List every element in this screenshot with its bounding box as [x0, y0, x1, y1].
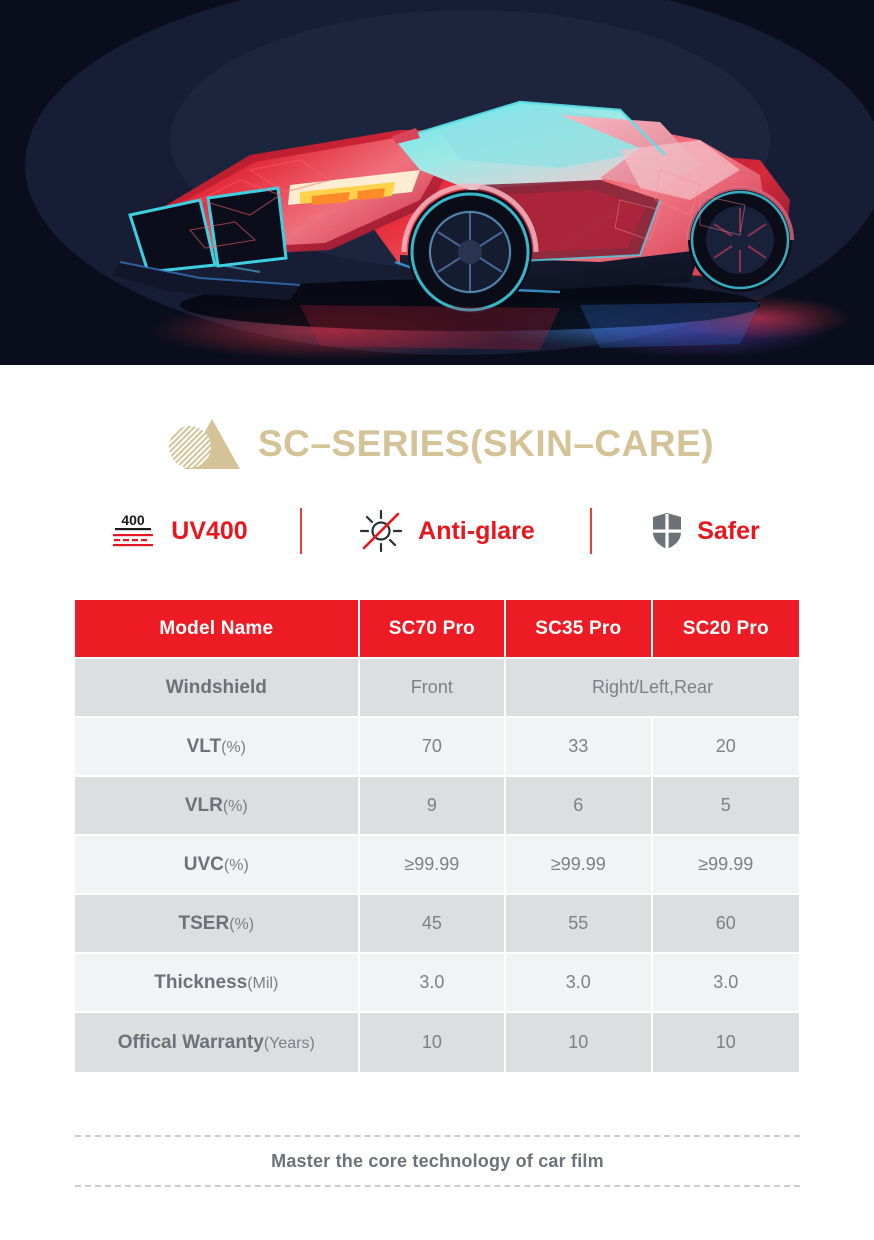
row-label-unit: (%)	[229, 916, 254, 933]
cell-uvc-sc35: ≥99.99	[506, 836, 652, 895]
feature-anti-glare-label: Anti-glare	[418, 517, 535, 546]
row-label-warranty: Offical Warranty(Years)	[75, 1013, 360, 1072]
cell-tser-sc20: 60	[653, 895, 799, 954]
shield-icon	[650, 511, 684, 551]
cell-thickness-sc70: 3.0	[360, 954, 506, 1013]
row-label-text: VLR	[185, 795, 223, 816]
feature-divider-2	[590, 508, 592, 554]
row-label-text: VLT	[187, 736, 221, 757]
feature-safer-label: Safer	[697, 517, 760, 546]
cell-warranty-sc20: 10	[653, 1013, 799, 1072]
header-sc70-pro: SC70 Pro	[360, 600, 506, 659]
cell-tser-sc70: 45	[360, 895, 506, 954]
row-label-text: TSER	[179, 913, 230, 934]
cell-tser-sc35: 55	[506, 895, 652, 954]
feature-anti-glare: Anti-glare	[340, 507, 552, 555]
row-label-vlt: VLT(%)	[75, 718, 360, 777]
cell-vlt-sc35: 33	[506, 718, 652, 777]
row-label-windshield: Windshield	[75, 659, 360, 718]
anti-glare-sun-icon	[357, 507, 405, 555]
cell-uvc-sc20: ≥99.99	[653, 836, 799, 895]
row-label-vlr: VLR(%)	[75, 777, 360, 836]
cell-uvc-sc70: ≥99.99	[360, 836, 506, 895]
page-title: SC–SERIES(SKIN–CARE)	[258, 423, 714, 465]
svg-text:400: 400	[122, 512, 146, 528]
table-row: VLR(%) 9 6 5	[75, 777, 799, 836]
row-label-text: Windshield	[166, 677, 267, 698]
row-label-uvc: UVC(%)	[75, 836, 360, 895]
hero-illustration	[0, 0, 874, 365]
footer: Master the core technology of car film	[75, 1135, 800, 1187]
cell-vlr-sc70: 9	[360, 777, 506, 836]
cell-vlr-sc35: 6	[506, 777, 652, 836]
feature-badges: 400 UV400	[0, 505, 874, 557]
hero-car-image	[0, 0, 874, 365]
cell-thickness-sc35: 3.0	[506, 954, 652, 1013]
row-label-thickness: Thickness(Mil)	[75, 954, 360, 1013]
table-row: Thickness(Mil) 3.0 3.0 3.0	[75, 954, 799, 1013]
cell-warranty-sc35: 10	[506, 1013, 652, 1072]
cell-vlr-sc20: 5	[653, 777, 799, 836]
cell-warranty-sc70: 10	[360, 1013, 506, 1072]
table-body: Windshield Front Right/Left,Rear VLT(%) …	[75, 659, 799, 1072]
row-label-unit: (Mil)	[247, 975, 278, 992]
cell-vlt-sc70: 70	[360, 718, 506, 777]
product-spec-page: SC–SERIES(SKIN–CARE) 400 UV400	[0, 0, 874, 1240]
row-label-unit: (%)	[224, 857, 249, 874]
row-label-text: Thickness	[154, 972, 247, 993]
spec-table: Model Name SC70 Pro SC35 Pro SC20 Pro Wi…	[75, 600, 799, 1072]
uv400-icon: 400	[108, 510, 158, 552]
row-label-unit: (%)	[223, 798, 248, 815]
brand-header: SC–SERIES(SKIN–CARE)	[0, 413, 874, 475]
header-sc35-pro: SC35 Pro	[506, 600, 652, 659]
row-label-text: UVC	[184, 854, 224, 875]
table-row: TSER(%) 45 55 60	[75, 895, 799, 954]
table-row: Offical Warranty(Years) 10 10 10	[75, 1013, 799, 1072]
table-header-row: Model Name SC70 Pro SC35 Pro SC20 Pro	[75, 600, 799, 659]
feature-uv400: 400 UV400	[94, 510, 262, 552]
table-row: VLT(%) 70 33 20	[75, 718, 799, 777]
row-label-unit: (%)	[221, 739, 246, 756]
footer-divider-bottom	[75, 1185, 800, 1187]
table-row: Windshield Front Right/Left,Rear	[75, 659, 799, 718]
header-sc20-pro: SC20 Pro	[653, 600, 799, 659]
cell-windshield-sc35-sc20: Right/Left,Rear	[506, 659, 799, 718]
cell-vlt-sc20: 20	[653, 718, 799, 777]
row-label-unit: (Years)	[264, 1035, 315, 1052]
feature-safer: Safer	[630, 511, 780, 551]
triangle-sphere-logo	[160, 415, 244, 473]
cell-thickness-sc20: 3.0	[653, 954, 799, 1013]
table-row: UVC(%) ≥99.99 ≥99.99 ≥99.99	[75, 836, 799, 895]
row-label-tser: TSER(%)	[75, 895, 360, 954]
cell-windshield-sc70: Front	[360, 659, 506, 718]
row-label-text: Offical Warranty	[118, 1032, 264, 1053]
header-model-name: Model Name	[75, 600, 360, 659]
footer-tagline: Master the core technology of car film	[75, 1137, 800, 1185]
feature-divider-1	[300, 508, 302, 554]
feature-uv400-label: UV400	[171, 517, 247, 546]
table-head: Model Name SC70 Pro SC35 Pro SC20 Pro	[75, 600, 799, 659]
